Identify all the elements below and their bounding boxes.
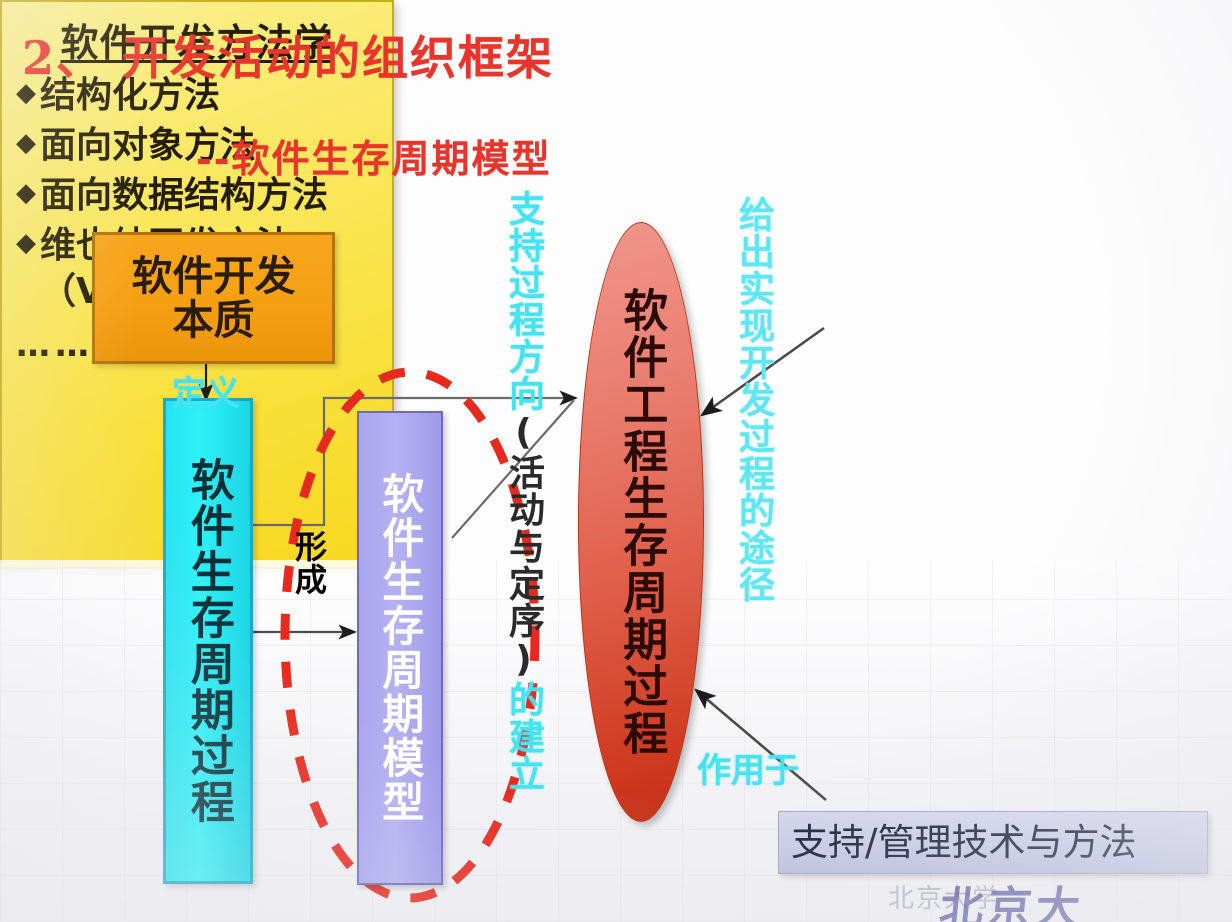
annotation-form: 形成 bbox=[286, 530, 332, 596]
annotation-support-part-1: 支持过程方向 bbox=[503, 190, 544, 412]
annotation-support-part-2: (活动与定序) bbox=[503, 412, 544, 681]
watermark-text: 北京大 bbox=[937, 872, 1088, 922]
box-software-lifecycle-process[interactable]: 软件生存周期过程 bbox=[163, 398, 253, 884]
box-software-development-essence[interactable]: 软件开发 本质 bbox=[92, 232, 335, 364]
box-software-lifecycle-model[interactable]: 软件生存周期模型 bbox=[357, 411, 443, 885]
annotation-support-process-direction: 支持过程方向(活动与定序)的建立 bbox=[497, 190, 549, 792]
diamond-bullet-icon: ◆ bbox=[16, 173, 36, 213]
annotation-define: 定义 bbox=[172, 366, 240, 415]
annotation-acts-on: 作用于 bbox=[697, 743, 799, 792]
diamond-bullet-icon: ◆ bbox=[16, 123, 36, 163]
annotation-support-part-3: 的建立 bbox=[503, 681, 544, 792]
annotation-implementation-way: 给出实现开发过程的途径 bbox=[727, 196, 779, 603]
slide-subtitle: --软件生存周期模型 bbox=[196, 128, 552, 183]
slide-title: 2、 开发活动的组织框架 bbox=[22, 22, 554, 88]
slide-canvas: 2、 开发活动的组织框架 --软件生存周期模型 软件开发 本质 软件生存周期过程… bbox=[0, 0, 1232, 922]
box-support-management-techniques[interactable]: 支持/管理技术与方法 bbox=[778, 811, 1208, 874]
box-essence-line-1: 软件开发 bbox=[132, 254, 296, 298]
diamond-bullet-icon: ◆ bbox=[16, 223, 36, 263]
box-essence-line-2: 本质 bbox=[173, 298, 255, 342]
ellipse-software-engineering-lifecycle-process[interactable]: 软件工程生存周期过程 bbox=[578, 222, 704, 822]
